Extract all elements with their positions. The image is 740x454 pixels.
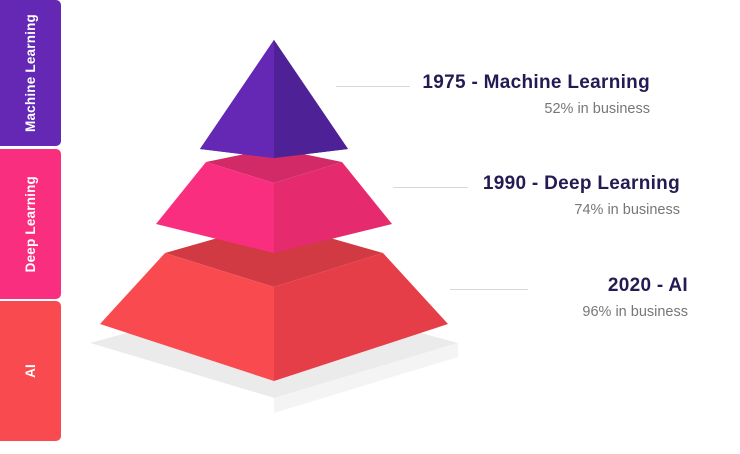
- label-machine-learning-value: 52% in business: [410, 101, 650, 118]
- label-ai-value: 96% in business: [448, 304, 688, 321]
- label-ai: 2020 - AI 96% in business: [448, 275, 688, 321]
- pyramid-tier-machine-learning[interactable]: [200, 40, 348, 158]
- category-tab-rail: Machine Learning Deep Learning AI: [0, 0, 61, 454]
- pyramid-tier-deep-learning[interactable]: [156, 148, 392, 253]
- tab-deep-learning[interactable]: Deep Learning: [0, 149, 61, 299]
- tab-machine-learning-label: Machine Learning: [24, 14, 38, 132]
- label-ai-title: 2020 - AI: [448, 275, 688, 297]
- label-machine-learning: 1975 - Machine Learning 52% in business: [410, 72, 650, 118]
- label-deep-learning: 1990 - Deep Learning 74% in business: [440, 173, 680, 219]
- label-deep-learning-value: 74% in business: [440, 202, 680, 219]
- tab-machine-learning[interactable]: Machine Learning: [0, 0, 61, 146]
- pyramid-chart: [60, 0, 480, 454]
- infographic-canvas: Machine Learning Deep Learning AI: [0, 0, 740, 454]
- tab-ai[interactable]: AI: [0, 301, 61, 441]
- tab-deep-learning-label: Deep Learning: [24, 176, 38, 272]
- tab-ai-label: AI: [24, 364, 38, 378]
- connector-line-machine-learning: [336, 86, 410, 87]
- label-deep-learning-title: 1990 - Deep Learning: [440, 173, 680, 195]
- label-machine-learning-title: 1975 - Machine Learning: [410, 72, 650, 94]
